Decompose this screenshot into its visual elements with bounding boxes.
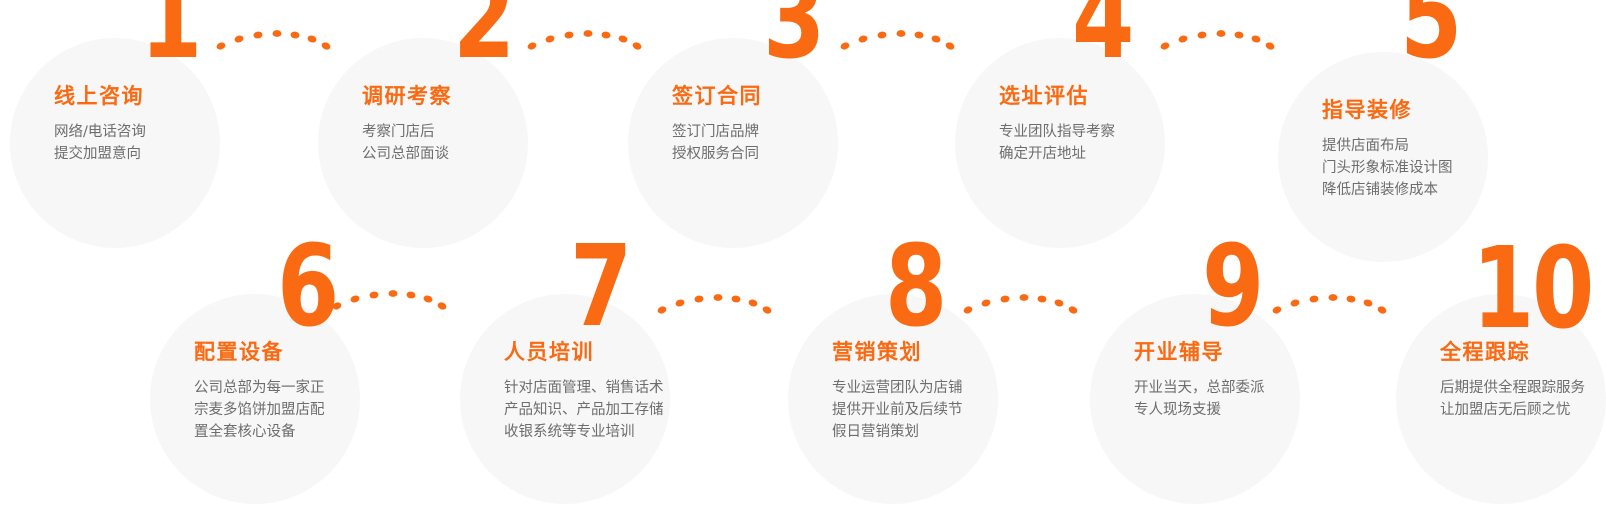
step-7-content: 人员培训 针对店面管理、销售话术 产品知识、产品加工存储 收银系统等专业培训: [504, 342, 734, 443]
step-2-desc-line-2: 公司总部面谈: [362, 143, 592, 165]
step-10-desc-line-1: 后期提供全程跟踪服务: [1440, 377, 1606, 399]
step-1-desc-line-1: 网络/电话咨询: [54, 121, 284, 143]
step-5-description: 提供店面布局 门头形象标准设计图 降低店铺装修成本: [1322, 135, 1552, 201]
step-1-title: 线上咨询: [54, 86, 284, 107]
step-9-desc-line-1: 开业当天，总部委派: [1134, 377, 1364, 399]
process-flow-diagram: 线上咨询 网络/电话咨询 提交加盟意向 1 调研考察 考察门店后 公司总部面谈 …: [0, 0, 1606, 508]
step-6-desc-line-1: 公司总部为每一家正: [194, 377, 424, 399]
step-3-desc-line-2: 授权服务合同: [672, 143, 902, 165]
step-7-description: 针对店面管理、销售话术 产品知识、产品加工存储 收银系统等专业培训: [504, 377, 734, 443]
step-8-description: 专业运营团队为店铺 提供开业前及后续节 假日营销策划: [832, 377, 1062, 443]
connector-2-3: [527, 22, 641, 54]
step-7-desc-line-3: 收银系统等专业培训: [504, 421, 734, 443]
step-5-title: 指导装修: [1322, 100, 1552, 121]
step-4-number: 4: [1072, 0, 1132, 62]
step-6-number: 6: [277, 244, 337, 330]
step-6-desc-line-3: 置全套核心设备: [194, 421, 424, 443]
connector-1-2: [216, 22, 330, 54]
step-10-number: 10: [1472, 246, 1592, 332]
connector-3-4: [840, 22, 954, 54]
step-5-number: 5: [1400, 0, 1460, 62]
step-3-content: 签订合同 签订门店品牌 授权服务合同: [672, 86, 902, 165]
step-5-desc-line-1: 提供店面布局: [1322, 135, 1552, 157]
step-2-description: 考察门店后 公司总部面谈: [362, 121, 592, 165]
step-7: 人员培训 针对店面管理、销售话术 产品知识、产品加工存储 收银系统等专业培训: [460, 294, 670, 504]
step-2-content: 调研考察 考察门店后 公司总部面谈: [362, 86, 592, 165]
step-7-desc-line-1: 针对店面管理、销售话术: [504, 377, 734, 399]
step-8-desc-line-1: 专业运营团队为店铺: [832, 377, 1062, 399]
step-10-description: 后期提供全程跟踪服务 让加盟店无后顾之忧: [1440, 377, 1606, 421]
step-1-content: 线上咨询 网络/电话咨询 提交加盟意向: [54, 86, 284, 165]
step-3-desc-line-1: 签订门店品牌: [672, 121, 902, 143]
step-8-desc-line-2: 提供开业前及后续节: [832, 399, 1062, 421]
step-9: 开业辅导 开业当天，总部委派 专人现场支援: [1090, 294, 1300, 504]
step-9-description: 开业当天，总部委派 专人现场支援: [1134, 377, 1364, 421]
step-1-description: 网络/电话咨询 提交加盟意向: [54, 121, 284, 165]
step-9-number: 9: [1202, 244, 1262, 330]
step-2-number: 2: [453, 0, 513, 62]
step-5-desc-line-3: 降低店铺装修成本: [1322, 179, 1552, 201]
step-6-content: 配置设备 公司总部为每一家正 宗麦多馅饼加盟店配 置全套核心设备: [194, 342, 424, 443]
step-3-number: 3: [763, 0, 823, 62]
step-8-content: 营销策划 专业运营团队为店铺 提供开业前及后续节 假日营销策划: [832, 342, 1062, 443]
step-4-desc-line-1: 专业团队指导考察: [999, 121, 1229, 143]
step-9-desc-line-2: 专人现场支援: [1134, 399, 1364, 421]
step-8-desc-line-3: 假日营销策划: [832, 421, 1062, 443]
step-6-description: 公司总部为每一家正 宗麦多馅饼加盟店配 置全套核心设备: [194, 377, 424, 443]
step-2-desc-line-1: 考察门店后: [362, 121, 592, 143]
step-4-description: 专业团队指导考察 确定开店地址: [999, 121, 1229, 165]
step-9-content: 开业辅导 开业当天，总部委派 专人现场支援: [1134, 342, 1364, 421]
step-3-title: 签订合同: [672, 86, 902, 107]
step-7-number: 7: [570, 244, 630, 330]
step-5-content: 指导装修 提供店面布局 门头形象标准设计图 降低店铺装修成本: [1322, 100, 1552, 201]
step-10-desc-line-2: 让加盟店无后顾之忧: [1440, 399, 1606, 421]
step-8-title: 营销策划: [832, 342, 1062, 363]
step-8-number: 8: [885, 244, 945, 330]
step-4-desc-line-2: 确定开店地址: [999, 143, 1229, 165]
step-4: 选址评估 专业团队指导考察 确定开店地址: [955, 38, 1165, 248]
step-1-desc-line-2: 提交加盟意向: [54, 143, 284, 165]
step-2-title: 调研考察: [362, 86, 592, 107]
step-7-desc-line-2: 产品知识、产品加工存储: [504, 399, 734, 421]
step-5-desc-line-2: 门头形象标准设计图: [1322, 157, 1552, 179]
step-4-content: 选址评估 专业团队指导考察 确定开店地址: [999, 86, 1229, 165]
step-1-number: 1: [140, 0, 200, 62]
connector-4-5: [1160, 22, 1274, 54]
connector-7-8: [657, 286, 771, 318]
step-4-title: 选址评估: [999, 86, 1229, 107]
step-6-desc-line-2: 宗麦多馅饼加盟店配: [194, 399, 424, 421]
step-3-description: 签订门店品牌 授权服务合同: [672, 121, 902, 165]
